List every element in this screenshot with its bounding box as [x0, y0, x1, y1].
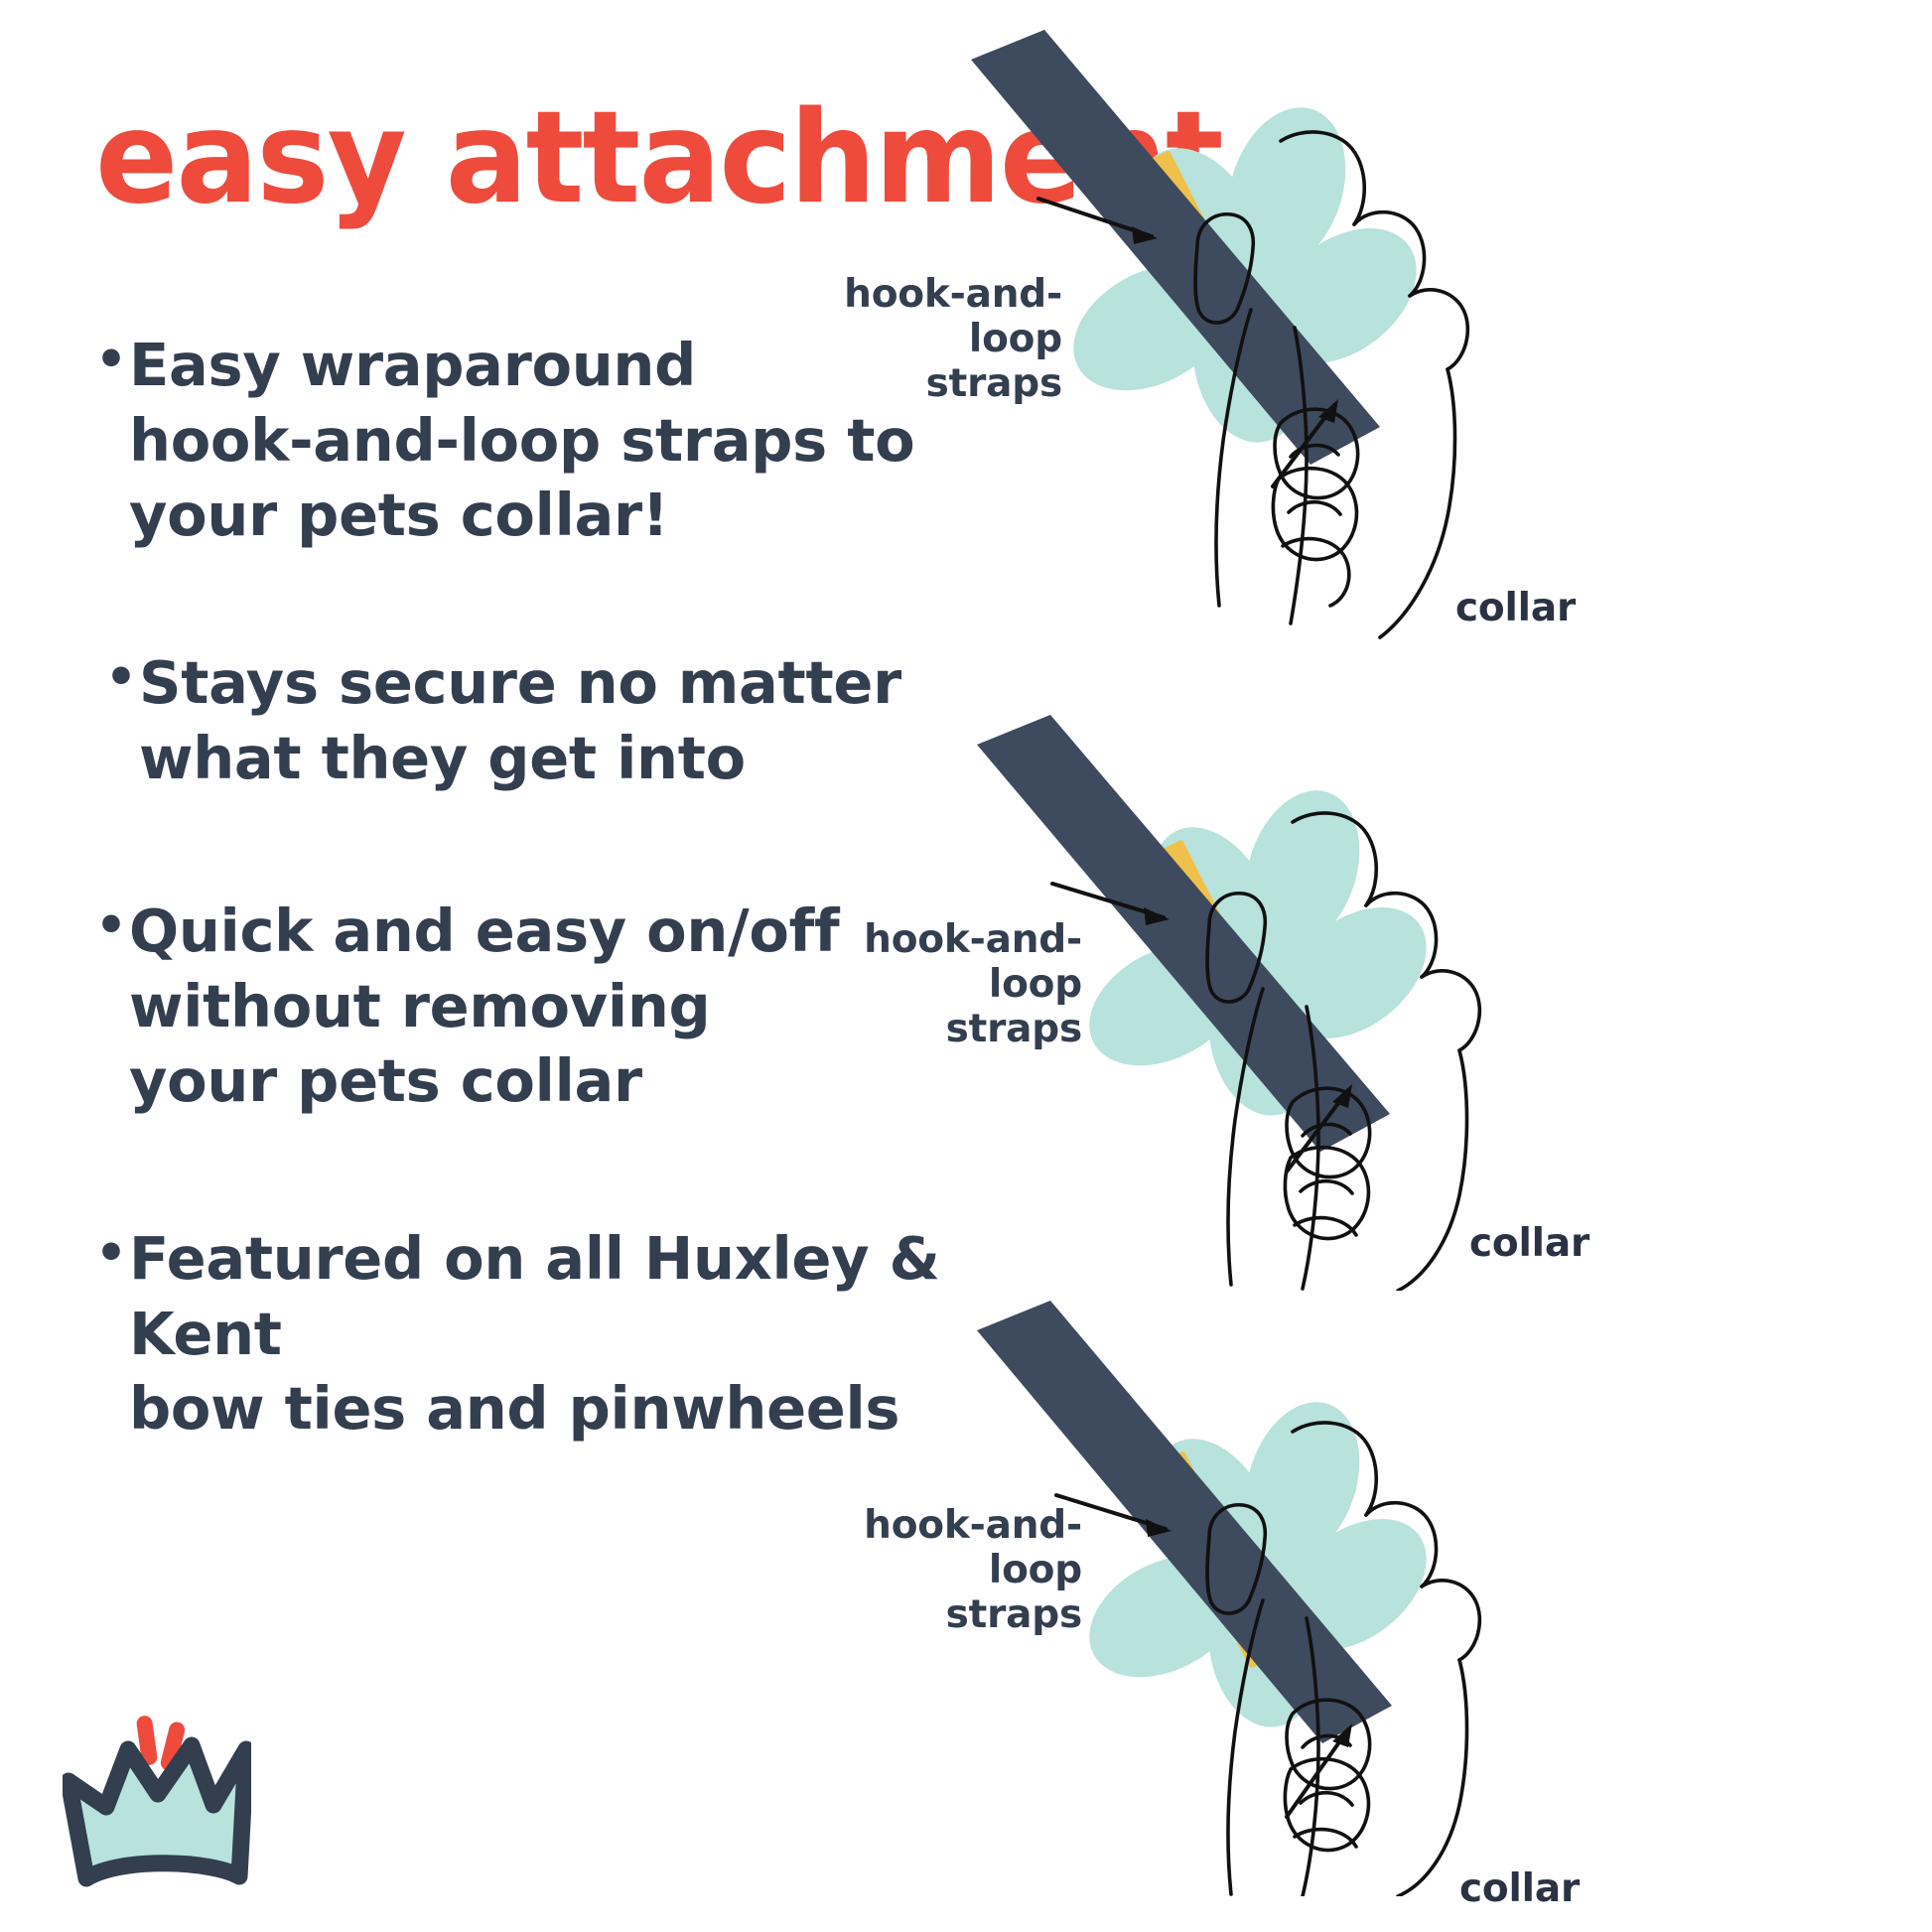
list-item: • Featured on all Huxley & Kent bow ties… [95, 1221, 1098, 1447]
hook-and-loop-straps-label: hook-and-loop straps [764, 273, 1062, 407]
bullet-marker-icon: • [105, 645, 139, 709]
hook-and-loop-straps-label: hook-and-loop straps [784, 1504, 1082, 1638]
hook-and-loop-straps-label: hook-and-loop straps [784, 918, 1082, 1052]
list-item: • Stays secure no matter what they get i… [105, 645, 1058, 795]
infographic-page: easy attachment • Easy wraparound hook-a… [0, 0, 1932, 1932]
collar-label: collar [1455, 586, 1576, 630]
bullet-marker-icon: • [95, 894, 129, 957]
collar-label: collar [1469, 1221, 1589, 1266]
collar-label: collar [1459, 1866, 1580, 1911]
list-item-label: Stays secure no matter what they get int… [139, 645, 1058, 795]
crown-shape [69, 1745, 246, 1878]
bullet-marker-icon: • [95, 328, 129, 391]
bullet-marker-icon: • [95, 1221, 129, 1285]
crown-logo [63, 1700, 251, 1898]
